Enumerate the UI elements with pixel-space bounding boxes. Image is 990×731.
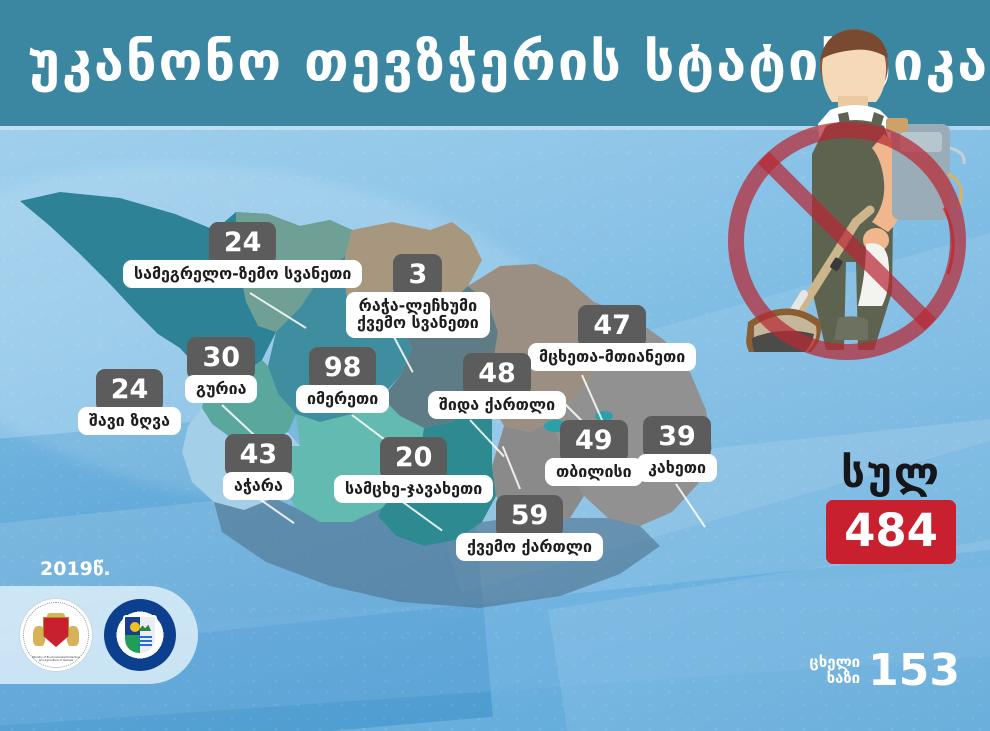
- region-count: 43: [225, 434, 293, 477]
- ministry-emblem-caption: Ministry of Environmental Protection and…: [30, 656, 82, 662]
- total-label: სულ: [826, 452, 956, 494]
- backpack-wire-1: [950, 148, 964, 164]
- region-label[interactable]: 3რაჭა-ლეჩხუმი ქვემო სვანეთი: [346, 254, 490, 338]
- total-value: 484: [826, 500, 956, 564]
- year-label: 2019წ.: [40, 558, 111, 580]
- region-name: გურია: [185, 375, 257, 403]
- region-label[interactable]: 59ქვემო ქართლი: [456, 495, 603, 561]
- region-count: 24: [209, 222, 277, 265]
- region-name: იმერეთი: [296, 385, 389, 413]
- region-label[interactable]: 49თბილისი: [545, 420, 643, 486]
- region-label[interactable]: 24შავი ზღვა: [78, 369, 181, 435]
- region-label[interactable]: 39კახეთი: [637, 416, 717, 482]
- region-name: თბილისი: [545, 458, 643, 486]
- backpack-panel: [900, 132, 942, 152]
- region-name: სამეგრელო-ზემო სვანეთი: [123, 260, 362, 288]
- region-count: 20: [380, 437, 448, 480]
- region-count: 48: [463, 353, 531, 396]
- logo-panel: Ministry of Environmental Protection and…: [0, 586, 198, 684]
- region-count: 30: [187, 337, 255, 380]
- hotline-label: ცხელი ხაზი: [809, 655, 860, 687]
- hotline-block: ცხელი ხაზი 153: [809, 651, 960, 691]
- region-count: 98: [309, 347, 377, 390]
- backpack-buckle: [886, 118, 908, 132]
- region-label[interactable]: 98იმერეთი: [296, 347, 389, 413]
- infographic-poster: უკანონო თევზჭერის სტატისტიკა 24სამეგრელო…: [0, 0, 990, 731]
- region-count: 3: [393, 254, 442, 297]
- region-count: 47: [578, 305, 646, 348]
- fisherman-figure: [774, 29, 964, 350]
- region-count: 49: [560, 420, 628, 463]
- region-label[interactable]: 20სამცხე-ჯავახეთი: [334, 437, 493, 503]
- region-count: 24: [96, 369, 164, 412]
- fishing-net: [746, 308, 821, 352]
- dept-shield-icon: [123, 615, 157, 655]
- region-name: რაჭა-ლეჩხუმი ქვემო სვანეთი: [346, 292, 490, 338]
- supervision-department-emblem-icon: [104, 599, 176, 671]
- region-name: ქვემო ქართლი: [456, 533, 603, 561]
- region-label[interactable]: 30გურია: [185, 337, 257, 403]
- region-name: აჭარა: [223, 472, 294, 500]
- waves-icon: [138, 636, 152, 648]
- region-label[interactable]: 24სამეგრელო-ზემო სვანეთი: [123, 222, 362, 288]
- region-count: 39: [643, 416, 711, 459]
- region-name: კახეთი: [637, 454, 717, 482]
- region-name: შავი ზღვა: [78, 407, 181, 435]
- ministry-emblem-icon: Ministry of Environmental Protection and…: [20, 599, 92, 671]
- region-count: 59: [496, 495, 564, 538]
- boot: [834, 316, 868, 340]
- hotline-number: 153: [868, 651, 960, 691]
- region-label[interactable]: 48შიდა ქართლი: [428, 353, 566, 419]
- region-label[interactable]: 43აჭარა: [223, 434, 294, 500]
- region-name: შიდა ქართლი: [428, 391, 566, 419]
- total-badge: სულ 484: [826, 452, 956, 564]
- fisherman-illustration: [734, 22, 984, 352]
